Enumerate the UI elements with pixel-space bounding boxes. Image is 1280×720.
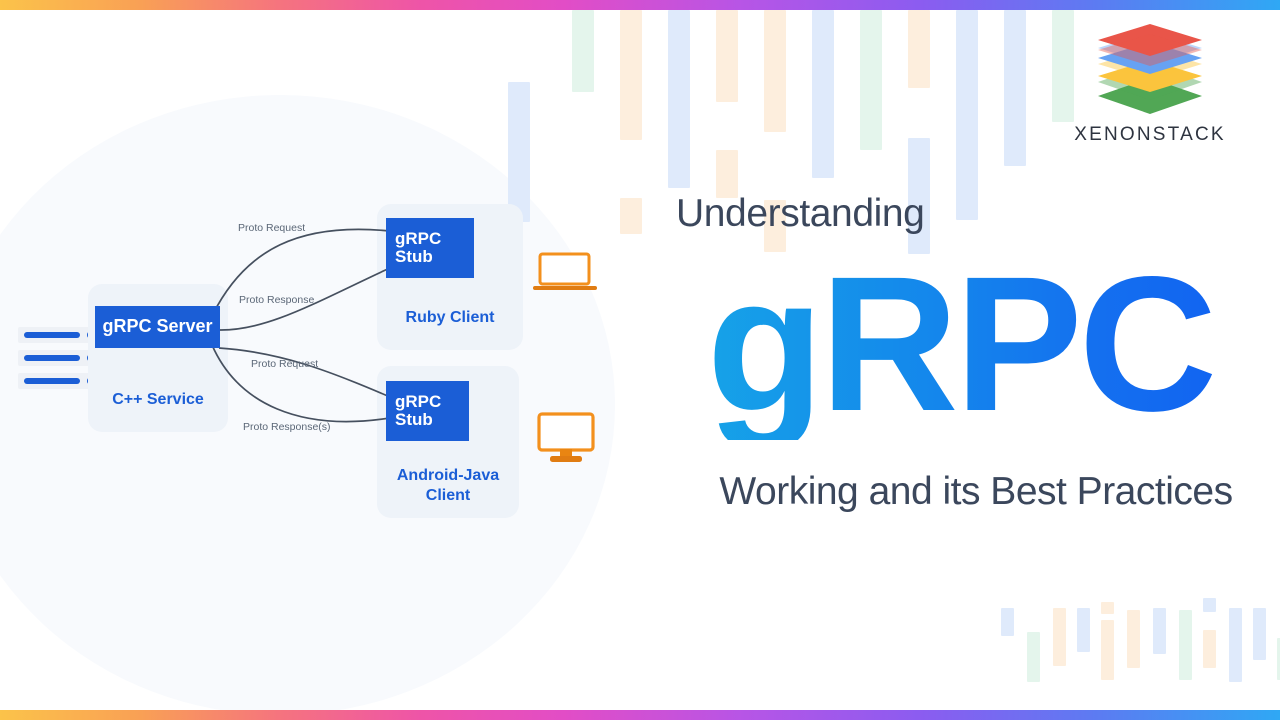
ruby-client-label: Ruby Client: [377, 308, 523, 328]
stacked-layers-icon: [1094, 20, 1206, 120]
edge-label-proto-response-android: Proto Response(s): [243, 421, 331, 433]
eyebrow-text: Understanding: [676, 192, 924, 236]
android-client-label: Android-Java Client: [377, 466, 519, 506]
cpp-service-label: C++ Service: [88, 390, 228, 410]
grpc-stub-box-ruby[interactable]: gRPC Stub: [386, 218, 474, 278]
grpc-server-box[interactable]: gRPC Server: [95, 306, 220, 348]
edge-label-proto-response-ruby: Proto Response: [239, 294, 314, 306]
edge-proto-response-android: [212, 345, 390, 422]
desktop-monitor-icon: [536, 412, 596, 464]
stub-line-2: Stub: [395, 247, 433, 266]
grpc-stub-box-android[interactable]: gRPC Stub: [386, 381, 469, 441]
top-gradient-bar: [0, 0, 1280, 10]
connector-curves: [0, 0, 660, 720]
android-label-line-2: Client: [426, 487, 470, 504]
bottom-gradient-bar: [0, 710, 1280, 720]
android-label-line-1: Android-Java: [397, 467, 499, 484]
stub-line-2: Stub: [395, 410, 433, 429]
stub-line-1: gRPC: [395, 229, 441, 248]
brand-logo[interactable]: XENONSTACK: [1050, 20, 1250, 140]
brand-name: XENONSTACK: [1050, 124, 1250, 146]
edge-label-proto-request-ruby: Proto Request: [238, 222, 305, 234]
page-title: gRPC: [660, 248, 1260, 440]
laptop-icon: [533, 252, 597, 296]
subtitle-text: Working and its Best Practices: [676, 470, 1276, 514]
stub-line-1: gRPC: [395, 392, 441, 411]
edge-label-proto-request-android: Proto Request: [251, 358, 318, 370]
grpc-architecture-diagram: gRPC Server gRPC Stub gRPC Stub C++ Serv…: [0, 0, 660, 720]
